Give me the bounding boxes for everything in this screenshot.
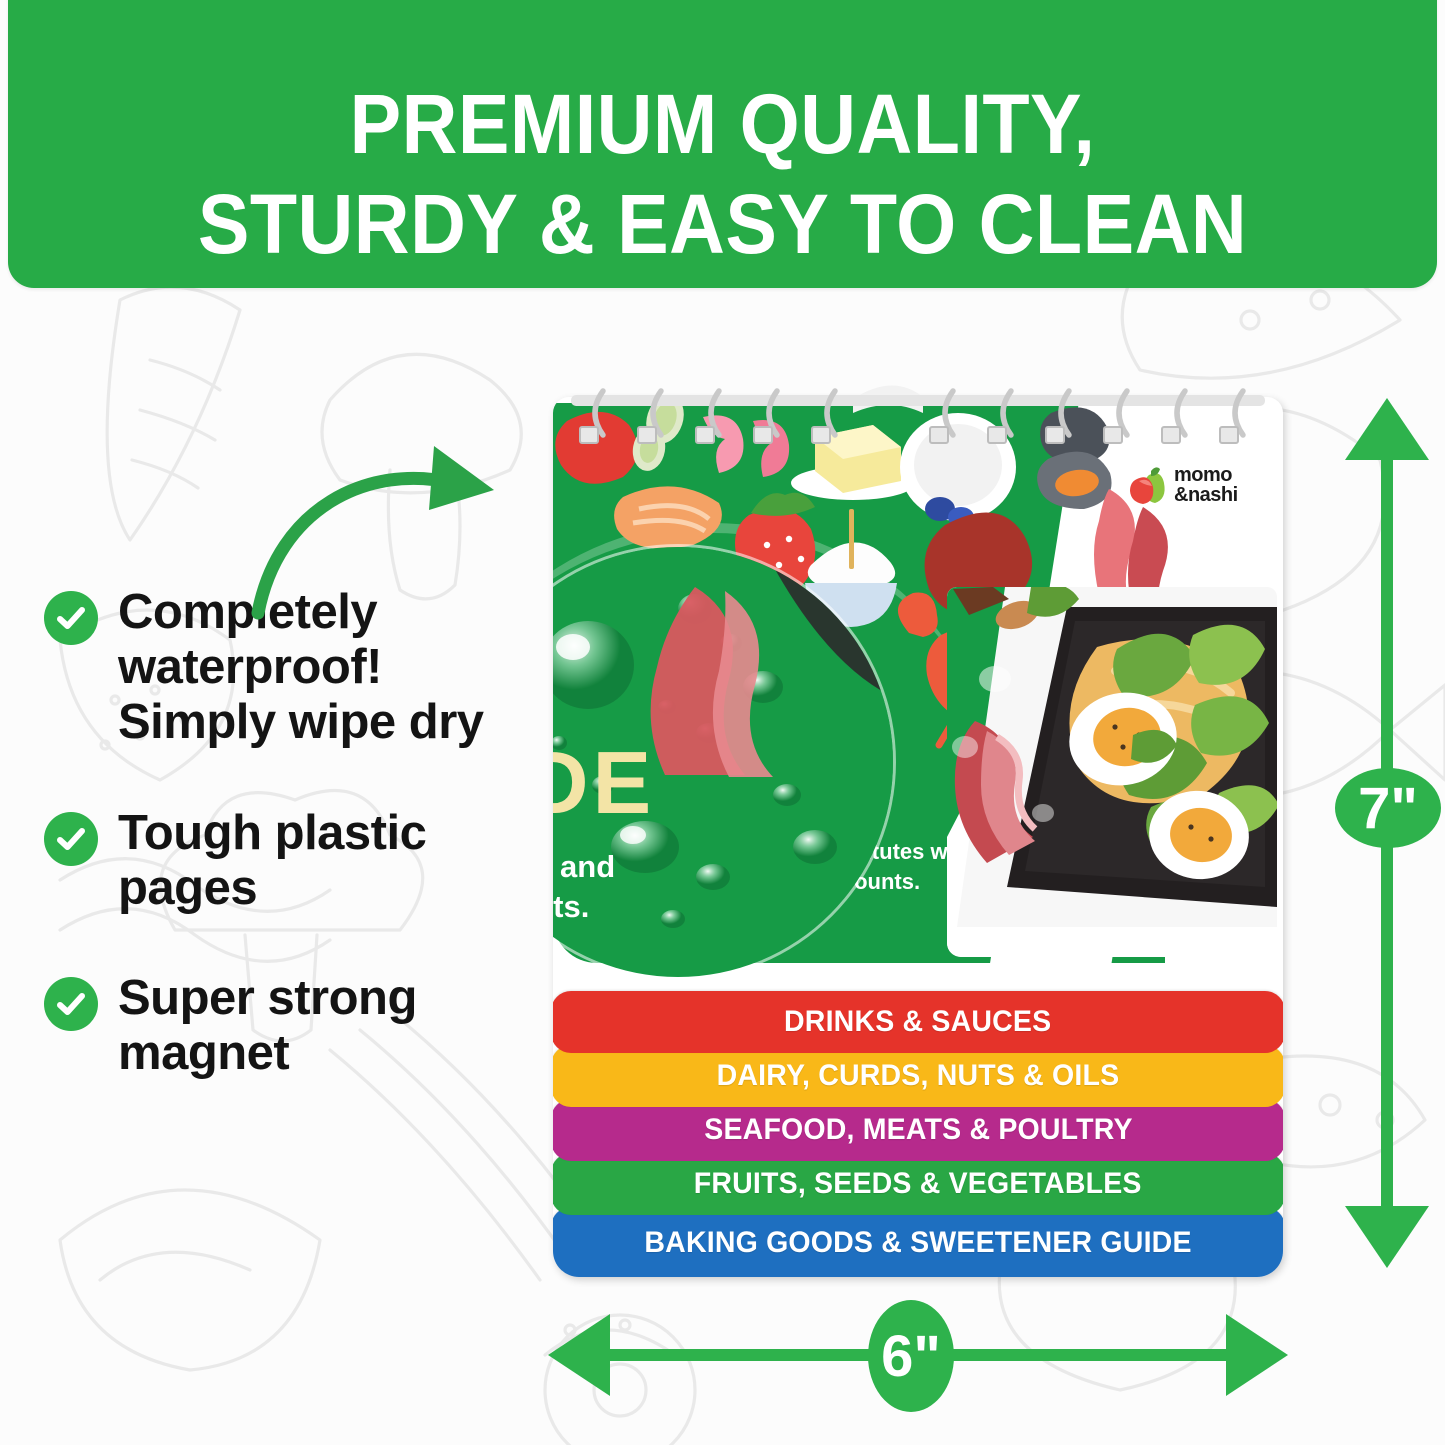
logo-wordmark: momo &nashi	[1174, 465, 1238, 505]
category-tab-fruits-seeds-vegetables[interactable]: FRUITS, SEEDS & VEGETABLES	[553, 1153, 1283, 1215]
category-label: DRINKS & SAUCES	[784, 1005, 1051, 1039]
spiral-binding	[553, 375, 1283, 447]
keto-plate-illustration	[947, 587, 1277, 957]
product-infographic: PREMIUM QUALITY, STURDY & EASY TO CLEAN …	[0, 0, 1445, 1445]
magnified-guide-text: UIDE	[553, 732, 655, 834]
height-dimension-badge: 7"	[1335, 768, 1441, 848]
magnified-sub-line-1: ood items and	[553, 849, 615, 884]
category-tab-list: DRINKS & SAUCES DAIRY, CURDS, NUTS & OIL…	[553, 999, 1283, 1277]
feature-item: Super strong magnet	[44, 971, 514, 1081]
header-banner: PREMIUM QUALITY, STURDY & EASY TO CLEAN	[8, 0, 1437, 288]
notepad-body: UIDE ood items and acro counts. DE keto …	[553, 397, 1283, 1277]
feature-item: Tough plastic pages	[44, 806, 514, 916]
width-dimension-badge: 6"	[868, 1300, 954, 1412]
check-icon	[44, 812, 98, 866]
brand-logo: momo &nashi	[1127, 463, 1257, 507]
curved-pointer-arrow	[248, 438, 508, 628]
logo-line-2: &nashi	[1174, 485, 1238, 505]
width-dimension-label: 6"	[881, 1323, 941, 1390]
check-icon	[44, 591, 98, 645]
banner-title-line-2: STURDY & EASY TO CLEAN	[65, 182, 1380, 266]
category-tab-dairy-curds-nuts-oils[interactable]: DAIRY, CURDS, NUTS & OILS	[553, 1045, 1283, 1107]
check-icon	[44, 977, 98, 1031]
product-notepad: UIDE ood items and acro counts. DE keto …	[553, 397, 1283, 1277]
category-label: BAKING GOODS & SWEETENER GUIDE	[644, 1226, 1191, 1260]
category-label: DAIRY, CURDS, NUTS & OILS	[717, 1059, 1120, 1093]
banner-title-line-1: PREMIUM QUALITY,	[65, 82, 1380, 166]
category-tab-seafood-meats-poultry[interactable]: SEAFOOD, MEATS & POULTRY	[553, 1099, 1283, 1161]
feature-label: Super strong magnet	[118, 971, 514, 1081]
magnifier-waterdrop-overlay: UIDE ood items and acro counts.	[553, 547, 893, 977]
feature-label: Tough plastic pages	[118, 806, 514, 916]
magnified-sub-text: ood items and acro counts.	[553, 847, 665, 928]
feature-list: Completely waterproof! Simply wipe dry T…	[44, 585, 514, 1137]
category-label: FRUITS, SEEDS & VEGETABLES	[694, 1167, 1142, 1201]
height-dimension-label: 7"	[1358, 775, 1418, 842]
magnified-sub-line-2: acro counts.	[553, 889, 589, 924]
peach-pear-icon	[1127, 465, 1167, 505]
logo-line-1: momo	[1174, 465, 1238, 485]
category-label: SEAFOOD, MEATS & POULTRY	[704, 1113, 1132, 1147]
category-tab-drinks-sauces[interactable]: DRINKS & SAUCES	[553, 991, 1283, 1053]
category-tab-baking-goods-sweetener[interactable]: BAKING GOODS & SWEETENER GUIDE	[553, 1207, 1283, 1277]
